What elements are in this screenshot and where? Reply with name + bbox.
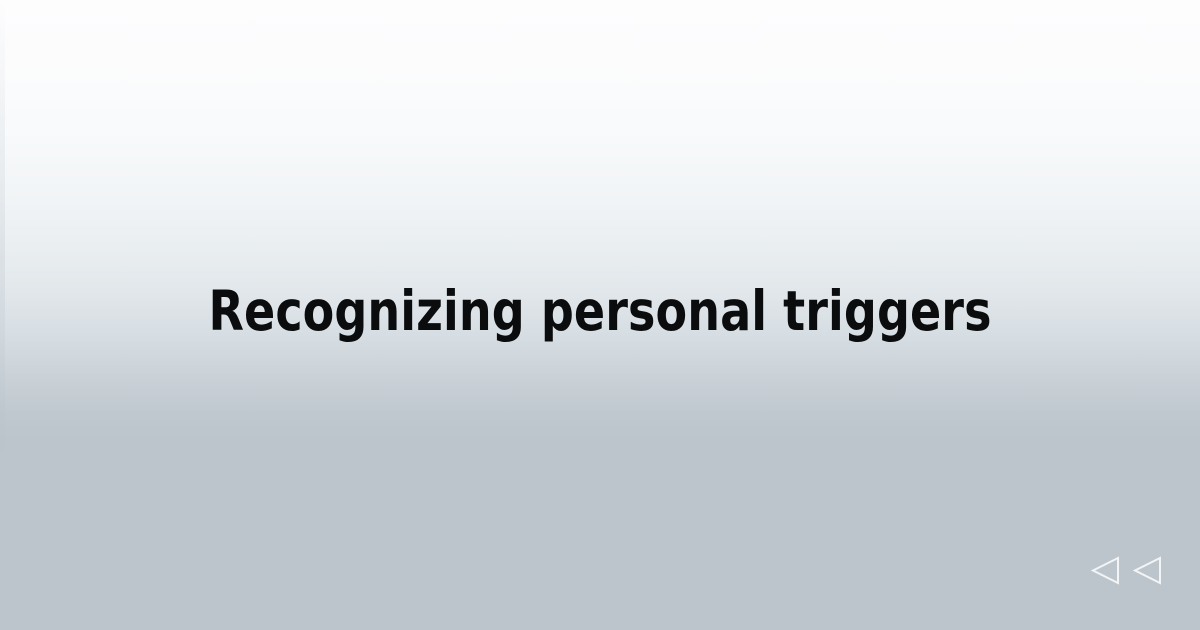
page-title: Recognizing personal triggers [153, 280, 1048, 343]
title-container: Recognizing personal triggers [0, 0, 1200, 630]
navigation-arrows [1090, 555, 1163, 586]
triangle-left-icon[interactable] [1090, 555, 1121, 586]
triangle-left-icon[interactable] [1132, 555, 1163, 586]
title-card: Recognizing personal triggers [0, 0, 1200, 630]
